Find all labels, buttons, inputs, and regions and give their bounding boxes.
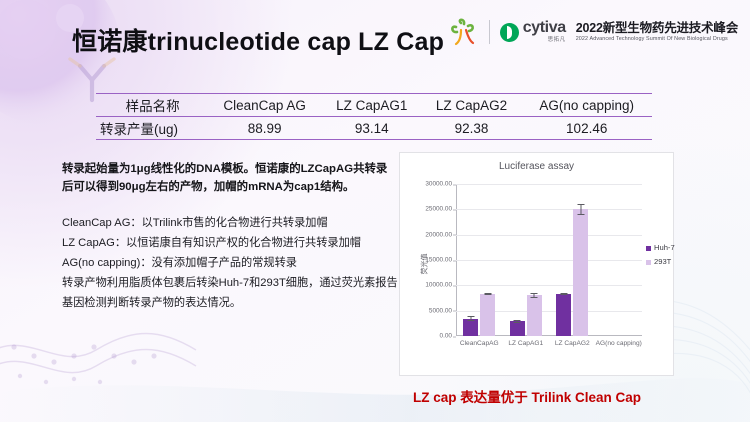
cytiva-mark-icon [500,23,519,42]
chart-legend: Huh-7293T [646,241,675,269]
table-header-cell: CleanCap AG [207,94,322,117]
chart-bar-group: LZ CapAG1 [503,184,550,336]
chart-bar [527,295,542,336]
chart-y-tick-label: 0.00 [440,333,452,340]
chart-y-tick-label: 10000.00 [425,282,452,289]
brand-divider [489,20,490,44]
slide-canvas: 恒诺康trinucleotide cap LZ Cap cytiva 思拓凡 2 [0,0,750,422]
chart-y-tick-label: 15000.00 [425,257,452,264]
yield-table: 样品名称 CleanCap AG LZ CapAG1 LZ CapAG2 AG(… [96,93,652,140]
lianzhou-logo-icon [449,18,479,46]
chart-bar-group: LZ CapAG2 [549,184,596,336]
chart-y-tick-label: 20000.00 [425,231,452,238]
summit-title-block: 2022新型生物药先进技术峰会 2022 Advanced Technology… [576,22,738,43]
table-row-label: 转录产量(ug) [96,117,207,140]
legend-label: 293T [654,255,671,269]
chart-plot-area: 30000.0025000.0020000.0015000.0010000.00… [456,184,642,336]
chart-legend-item: 293T [646,255,675,269]
chart-error-bar [470,316,471,321]
chart-error-bar [563,293,564,295]
chart-error-bar [487,293,488,295]
chart-bar-group: CleanCapAG [456,184,503,336]
cytiva-wordmark: cytiva [523,20,566,36]
chart-y-tick-label: 5000.00 [429,307,452,314]
table-header-cell: LZ CapAG1 [322,94,422,117]
chart-bar-group: AG(no capping) [596,184,643,336]
chart-x-tick-label: LZ CapAG1 [503,340,550,348]
chart-error-bar [534,293,535,298]
legend-swatch [646,260,651,265]
chart-error-bar [580,204,581,216]
chart-x-tick-label: LZ CapAG2 [549,340,596,348]
summit-title-cn: 2022新型生物药先进技术峰会 [576,22,738,35]
cytiva-logo: cytiva 思拓凡 [500,20,566,44]
table-header-cell: LZ CapAG2 [422,94,522,117]
definition-list: CleanCap AG：以Trilink市售的化合物进行共转录加帽 LZ Cap… [62,214,402,314]
table-header-cell: AG(no capping) [521,94,652,117]
chart-title: Luciferase assay [400,161,673,172]
chart-bar [556,294,571,336]
chart-bar [480,294,495,336]
list-item: LZ CapAG：以恒诺康自有知识产权的化合物进行共转录加帽 [62,234,402,254]
table-row: 转录产量(ug) 88.99 93.14 92.38 102.46 [96,117,652,140]
summary-paragraph: 转录起始量为1μg线性化的DNA模板。恒诺康的LZCapAG共转录后可以得到90… [62,160,394,197]
chart-error-bar [517,320,518,323]
chart-y-tick-label: 30000.00 [425,181,452,188]
brand-logo-bar: cytiva 思拓凡 2022新型生物药先进技术峰会 2022 Advanced… [449,18,738,46]
chart-y-tick-label: 25000.00 [425,206,452,213]
legend-swatch [646,246,651,251]
chart-bar [573,209,588,336]
list-item: 转录产物利用脂质体包裹后转染Huh-7和293T细胞，通过荧光素报告基因检测判断… [62,274,402,314]
table-cell: 88.99 [207,117,322,140]
chart-legend-item: Huh-7 [646,241,675,255]
cytiva-subtext: 思拓凡 [523,38,566,44]
table-cell: 102.46 [521,117,652,140]
chart-x-tick-label: CleanCapAG [456,340,503,348]
luciferase-assay-chart: Luciferase assay 荧光值 30000.0025000.00200… [399,152,674,376]
list-item: AG(no capping)：没有添加帽子产品的常规转录 [62,254,402,274]
table-cell: 92.38 [422,117,522,140]
conclusion-text: LZ cap 表达量优于 Trilink Clean Cap [413,386,641,406]
table-header-cell: 样品名称 [96,94,207,117]
legend-label: Huh-7 [654,241,675,255]
table-header-row: 样品名称 CleanCap AG LZ CapAG1 LZ CapAG2 AG(… [96,94,652,117]
chart-bar [463,319,478,336]
chart-bar [510,321,525,336]
chart-bar-groups: CleanCapAGLZ CapAG1LZ CapAG2AG(no cappin… [456,184,642,336]
page-title: 恒诺康trinucleotide cap LZ Cap [72,22,444,58]
summit-title-en: 2022 Advanced Technology Summit Of New B… [576,37,738,43]
list-item: CleanCap AG：以Trilink市售的化合物进行共转录加帽 [62,214,402,234]
table-cell: 93.14 [322,117,422,140]
chart-x-tick-label: AG(no capping) [596,340,643,348]
